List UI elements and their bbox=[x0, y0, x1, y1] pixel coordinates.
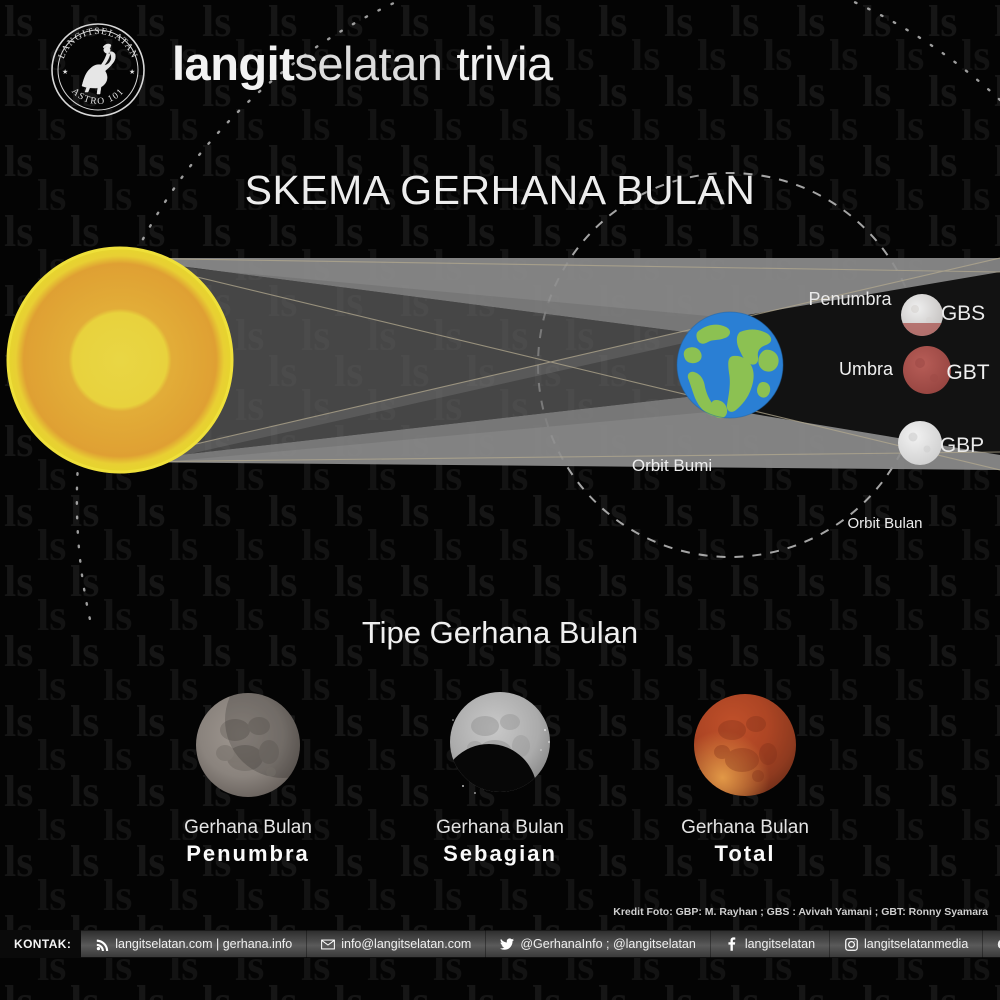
type-caption-bottom: Penumbra bbox=[118, 840, 378, 868]
moon-gbp-label: GBP bbox=[940, 434, 984, 457]
type-caption-bottom: Total bbox=[615, 840, 875, 868]
moon-gbt bbox=[903, 346, 951, 394]
moon-gbp bbox=[898, 421, 942, 465]
footer-item-label: langitselatanmedia bbox=[864, 937, 968, 951]
logo-star-left: ★ bbox=[62, 68, 68, 76]
wordmark-trivia: trivia bbox=[456, 37, 552, 90]
eclipse-type-penumbra: Gerhana Bulan Penumbra bbox=[118, 690, 378, 868]
earth bbox=[677, 312, 783, 418]
facebook-icon bbox=[725, 937, 739, 951]
footer-item-label: info@langitselatan.com bbox=[341, 937, 471, 951]
footer-item-label: @GerhanaInfo ; @langitselatan bbox=[520, 937, 695, 951]
moon-partial-photo bbox=[445, 690, 555, 800]
footer-item-twitter[interactable]: @GerhanaInfo ; @langitselatan bbox=[486, 930, 710, 958]
moon-gbs-label: GBS bbox=[941, 302, 985, 325]
page-header: LANGITSELATAN ASTRO 101 ★ ★ langitselata… bbox=[0, 0, 1000, 140]
footer-item-email[interactable]: info@langitselatan.com bbox=[307, 930, 486, 958]
photo-credit: Kredit Foto: GBP: M. Rayhan ; GBS : Aviv… bbox=[613, 906, 988, 918]
wordmark-langit: langit bbox=[172, 37, 294, 90]
footer-item-googleplus[interactable]: G+ LangitselatanMedia bbox=[983, 930, 1000, 958]
footer-item-facebook[interactable]: langitselatan bbox=[711, 930, 830, 958]
footer-item-website[interactable]: langitselatan.com | gerhana.info bbox=[81, 930, 307, 958]
contact-footer-bar: KONTAK: langitselatan.com | gerhana.info… bbox=[0, 930, 1000, 958]
moon-penumbral-photo bbox=[193, 690, 303, 800]
umbra-label: Umbra bbox=[839, 359, 894, 379]
moon-total-photo bbox=[690, 690, 800, 800]
footer-kontak-label: KONTAK: bbox=[0, 930, 81, 958]
orbit-bumi-label: Orbit Bumi bbox=[632, 456, 712, 475]
eclipse-type-sebagian: Gerhana Bulan Sebagian bbox=[370, 690, 630, 868]
types-section-title: Tipe Gerhana Bulan bbox=[0, 615, 1000, 651]
page-title: SKEMA GERHANA BULAN bbox=[0, 167, 1000, 214]
logo-star-right: ★ bbox=[129, 68, 135, 76]
footer-item-label: langitselatan bbox=[745, 937, 815, 951]
site-wordmark: langitselatantrivia bbox=[172, 36, 553, 92]
twitter-icon bbox=[500, 937, 514, 951]
instagram-icon bbox=[844, 937, 858, 951]
type-caption-bottom: Sebagian bbox=[370, 840, 630, 868]
svg-text:LANGITSELATAN: LANGITSELATAN bbox=[57, 27, 139, 60]
wordmark-selatan: selatan bbox=[294, 37, 442, 90]
rss-icon bbox=[95, 937, 109, 951]
type-caption-top: Gerhana Bulan bbox=[615, 816, 875, 840]
logo-rider-figure bbox=[82, 44, 115, 94]
footer-item-label: langitselatan.com | gerhana.info bbox=[115, 937, 292, 951]
penumbra-label: Penumbra bbox=[808, 289, 892, 309]
moon-gbt-label: GBT bbox=[946, 361, 989, 384]
sun bbox=[8, 248, 232, 472]
type-caption-top: Gerhana Bulan bbox=[370, 816, 630, 840]
type-caption-top: Gerhana Bulan bbox=[118, 816, 378, 840]
mail-icon bbox=[321, 937, 335, 951]
footer-item-instagram[interactable]: langitselatanmedia bbox=[830, 930, 983, 958]
langitselatan-seal-logo[interactable]: LANGITSELATAN ASTRO 101 ★ ★ bbox=[48, 20, 148, 120]
logo-top-text: LANGITSELATAN bbox=[57, 27, 139, 60]
eclipse-type-total: Gerhana Bulan Total bbox=[615, 690, 875, 868]
orbit-bulan-label: Orbit Bulan bbox=[847, 515, 922, 532]
